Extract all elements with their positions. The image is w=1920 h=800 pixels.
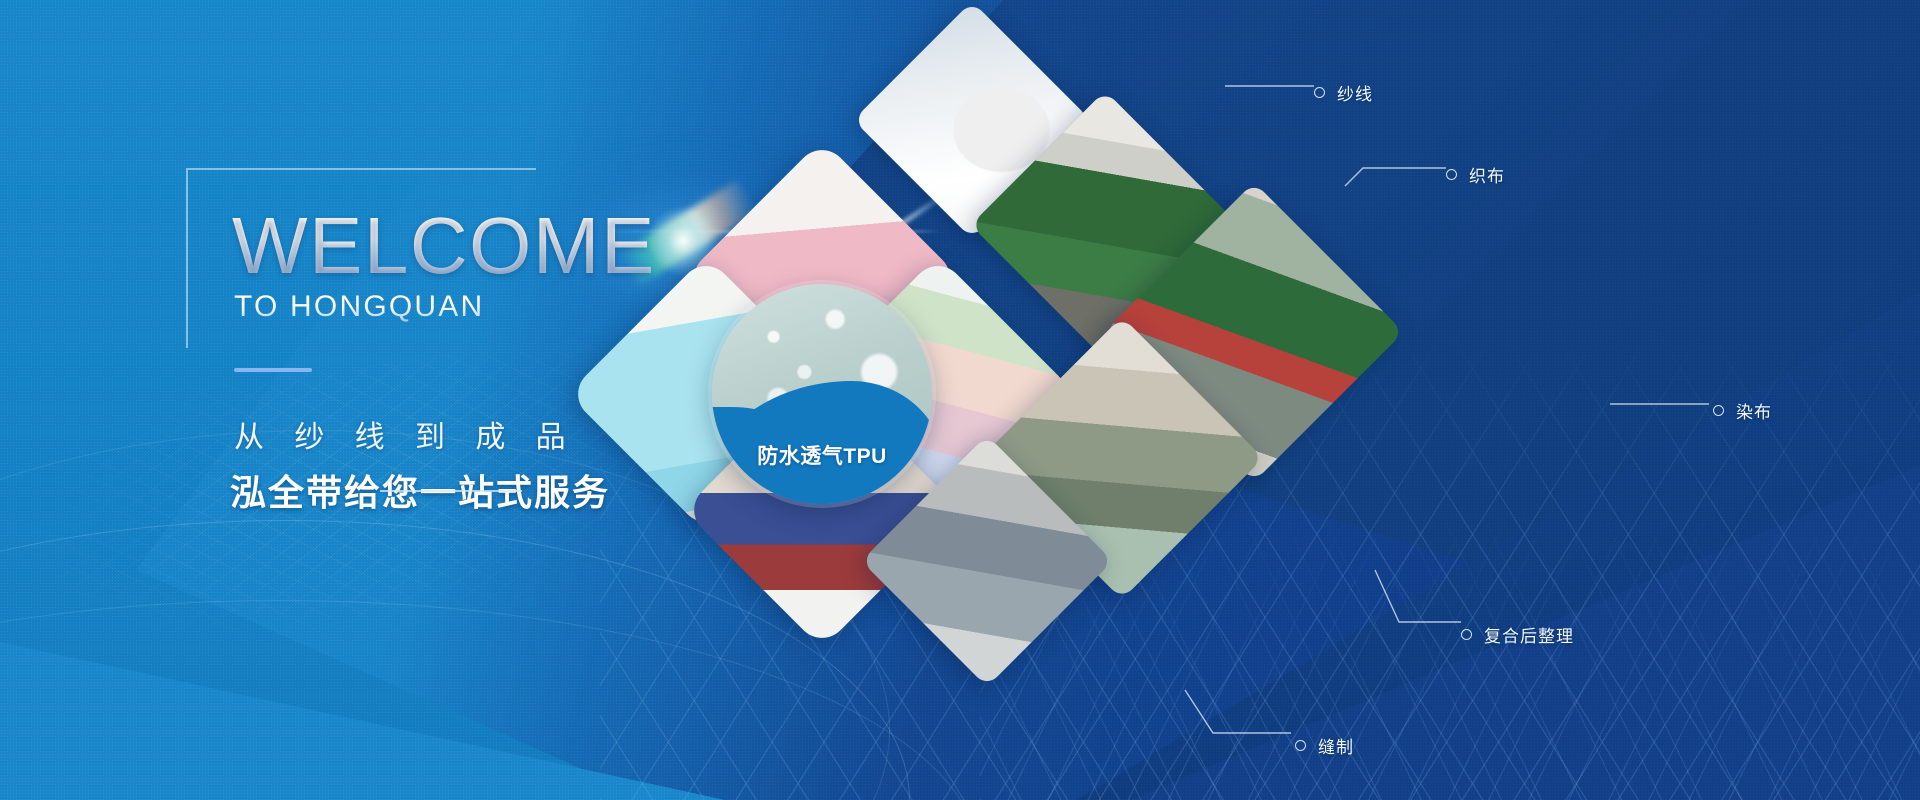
marker-dot-icon [1295, 740, 1306, 751]
marker-dot-icon [1446, 169, 1457, 180]
marker-dot-icon [1713, 405, 1724, 416]
process-label-weaving[interactable]: 织布 [1446, 162, 1505, 187]
marker-dot-icon [1461, 629, 1472, 640]
process-label-text: 织布 [1469, 162, 1505, 187]
page-title: WELCOME [232, 206, 656, 286]
tagline-small: 从 纱 线 到 成 品 [234, 412, 577, 456]
marker-dot-icon [1314, 87, 1325, 98]
badge-label: 防水透气TPU [712, 440, 932, 470]
decorative-rule-lower [380, 490, 522, 492]
process-label-lamination[interactable]: 复合后整理 [1461, 622, 1574, 647]
process-label-yarn[interactable]: 纱线 [1314, 80, 1373, 105]
process-label-text: 纱线 [1337, 80, 1373, 105]
page-subtitle: TO HONGQUAN [234, 292, 484, 322]
hero-banner: WELCOME TO HONGQUAN 从 纱 线 到 成 品 泓全带给您一站式… [0, 0, 1920, 800]
process-label-text: 缝制 [1318, 733, 1354, 758]
accent-rule [234, 368, 312, 372]
process-label-sewing[interactable]: 缝制 [1295, 733, 1354, 758]
process-label-dyeing[interactable]: 染布 [1713, 398, 1772, 423]
tpu-badge[interactable]: 防水透气TPU [712, 284, 932, 504]
process-label-text: 复合后整理 [1484, 622, 1574, 647]
process-label-text: 染布 [1736, 398, 1772, 423]
